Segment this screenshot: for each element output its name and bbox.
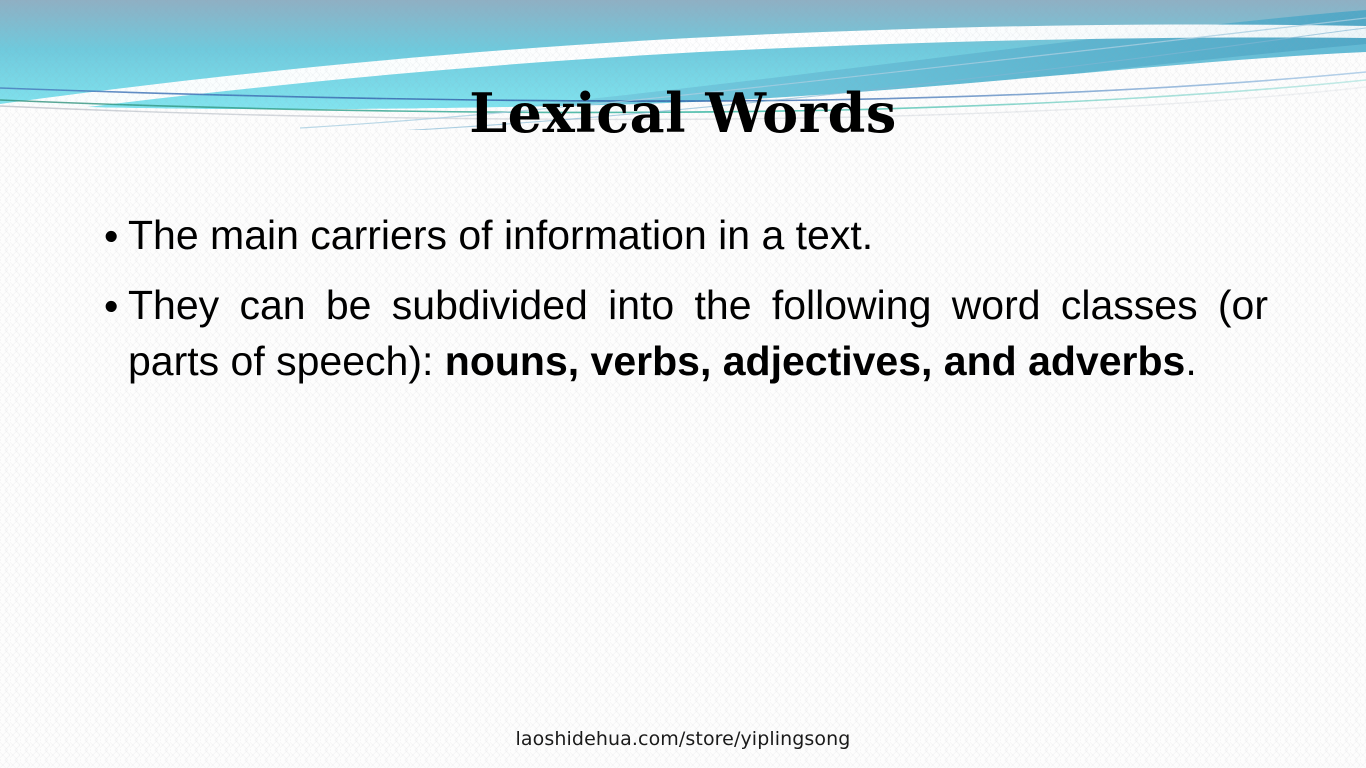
bullet-2-segment-period: . [1185,338,1196,384]
list-item: • The main carriers of information in a … [100,207,1268,265]
bullet-1-text: The main carriers of information in a te… [128,207,1268,263]
list-item: • They can be subdivided into the follow… [100,277,1268,389]
bullet-2-text: They can be subdivided into the followin… [128,277,1268,389]
bullet-2-segment-bold: nouns, verbs, adjectives, and adverbs [445,338,1186,384]
footer-attribution: laoshidehua.com/store/yiplingsong [0,728,1366,750]
content-body: • The main carriers of information in a … [100,207,1268,401]
slide-title: Lexical Words [0,85,1366,142]
bullet-marker-icon: • [100,207,128,265]
slide: Lexical Words • The main carriers of inf… [0,0,1366,768]
bullet-marker-icon: • [100,277,128,335]
